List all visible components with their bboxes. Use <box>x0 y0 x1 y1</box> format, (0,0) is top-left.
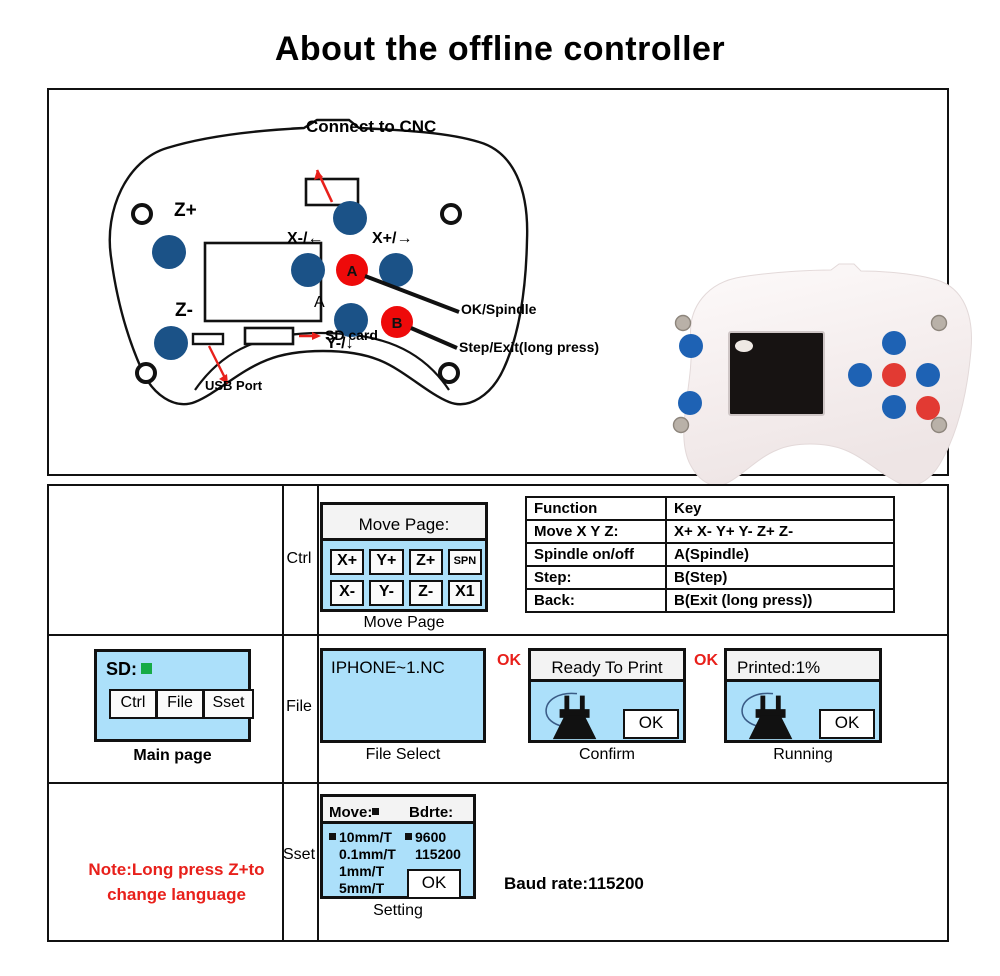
sd-label: SD: <box>106 659 137 679</box>
language-note: Note:Long press Z+to change language <box>69 858 284 907</box>
row-label-ctrl: Ctrl <box>283 550 315 568</box>
setting-head-move: Move: <box>329 801 382 824</box>
confirm-screen[interactable]: Ready To Print OK <box>528 648 686 743</box>
setting-caption: Setting <box>320 902 476 920</box>
main-page-screen[interactable]: SD: Ctrl File Sset <box>94 649 251 742</box>
function-key-table: Function Key Move X Y Z: X+ X- Y+ Y- Z+ … <box>525 496 895 613</box>
baud-rate-note: Baud rate:115200 <box>504 874 644 894</box>
move-option[interactable]: 5mm/T <box>329 880 396 897</box>
file-select-caption: File Select <box>320 746 486 764</box>
key-x-minus[interactable]: X- <box>330 580 364 606</box>
table-row: Step: B(Step) <box>526 566 894 589</box>
setting-move-options[interactable]: 10mm/T 0.1mm/T 1mm/T 5mm/T <box>329 829 396 897</box>
key-z-plus[interactable]: Z+ <box>409 549 443 575</box>
row-label-sset: Sset <box>283 846 315 864</box>
label-ok-spindle: OK/Spindle <box>461 301 536 317</box>
file-select-screen[interactable]: IPHONE~1.NC <box>320 648 486 743</box>
baud-option[interactable]: 115200 <box>405 846 461 863</box>
selected-bullet-icon <box>329 833 336 840</box>
label-x-minus: X-/← <box>287 230 323 248</box>
label-step-exit: Step/Exit(long press) <box>459 339 599 355</box>
transition-ok-1: OK <box>497 652 521 670</box>
key-x-plus[interactable]: X+ <box>330 549 364 575</box>
cell-key-move: X+ X- Y+ Y- Z+ Z- <box>666 520 894 543</box>
move-option-selected[interactable]: 10mm/T <box>329 829 396 846</box>
setting-baud-options[interactable]: 9600 115200 <box>405 829 461 863</box>
cell-key-spindle: A(Spindle) <box>666 543 894 566</box>
main-page-button-sset[interactable]: Sset <box>203 689 254 719</box>
move-option[interactable]: 1mm/T <box>329 863 396 880</box>
grid-hline-2 <box>49 782 947 784</box>
cell-function-back: Back: <box>526 589 666 612</box>
bullet-icon <box>372 808 379 815</box>
setting-header-bar: Move: Bdrte: <box>323 797 473 824</box>
key-z-minus[interactable]: Z- <box>409 580 443 606</box>
main-page-caption: Main page <box>94 747 251 765</box>
table-header-row: Function Key <box>526 497 894 520</box>
label-x-plus: X+/→ <box>372 230 412 248</box>
page-title: About the offline controller <box>0 30 1000 69</box>
key-y-plus[interactable]: Y+ <box>369 549 403 575</box>
move-page-screen[interactable]: Move Page: X+ Y+ Z+ SPN X- Y- Z- X1 <box>320 502 488 612</box>
key-y-minus[interactable]: Y- <box>369 580 403 606</box>
main-page-sd-status: SD: <box>106 659 152 680</box>
printer-icon <box>537 684 617 742</box>
running-ok-button[interactable]: OK <box>819 709 875 739</box>
confirm-caption: Confirm <box>528 746 686 764</box>
key-x1[interactable]: X1 <box>448 580 482 606</box>
language-note-line1: Note:Long press Z+to <box>69 858 284 883</box>
cell-function-move: Move X Y Z: <box>526 520 666 543</box>
running-title: Printed:1% <box>727 651 879 682</box>
header-function: Function <box>526 497 666 520</box>
selected-bullet-icon <box>405 833 412 840</box>
move-page-keypad[interactable]: X+ Y+ Z+ SPN X- Y- Z- X1 <box>330 549 482 606</box>
setting-head-bdrte: Bdrte: <box>409 801 453 824</box>
label-z-plus: Z+ <box>174 200 197 222</box>
confirm-title: Ready To Print <box>531 651 683 682</box>
table-row: Spindle on/off A(Spindle) <box>526 543 894 566</box>
move-page-title: Move Page: <box>323 505 485 541</box>
cell-key-back: B(Exit (long press)) <box>666 589 894 612</box>
key-spn[interactable]: SPN <box>448 549 482 575</box>
running-caption: Running <box>724 746 882 764</box>
grid-hline-1 <box>49 634 947 636</box>
move-option[interactable]: 0.1mm/T <box>329 846 396 863</box>
table-row: Move X Y Z: X+ X- Y+ Y- Z+ Z- <box>526 520 894 543</box>
file-select-filename[interactable]: IPHONE~1.NC <box>331 658 445 678</box>
label-z-minus: Z- <box>175 300 193 322</box>
setting-screen[interactable]: Move: Bdrte: 10mm/T 0.1mm/T 1mm/T 5mm/T … <box>320 794 476 899</box>
move-page-caption: Move Page <box>320 614 488 632</box>
baud-option-selected[interactable]: 9600 <box>405 829 461 846</box>
transition-ok-2: OK <box>694 652 718 670</box>
running-screen[interactable]: Printed:1% OK <box>724 648 882 743</box>
screens-panel: Ctrl File Sset Move Page: X+ Y+ Z+ SPN X… <box>47 484 949 942</box>
label-connect-to-cnc: Connect to CNC <box>306 117 436 137</box>
setting-ok-button[interactable]: OK <box>407 869 461 899</box>
language-note-line2: change language <box>69 883 284 908</box>
header-key: Key <box>666 497 894 520</box>
table-row: Back: B(Exit (long press)) <box>526 589 894 612</box>
sd-present-indicator <box>141 663 152 674</box>
row-label-file: File <box>283 698 315 716</box>
controller-photo <box>649 258 999 520</box>
cell-function-step: Step: <box>526 566 666 589</box>
main-page-button-file[interactable]: File <box>156 689 204 719</box>
label-sd-card: SD card <box>325 327 378 343</box>
cell-function-spindle: Spindle on/off <box>526 543 666 566</box>
label-a-button: A <box>314 294 325 312</box>
main-page-button-ctrl[interactable]: Ctrl <box>109 689 157 719</box>
cell-key-step: B(Step) <box>666 566 894 589</box>
grid-vline-right <box>317 486 319 940</box>
confirm-ok-button[interactable]: OK <box>623 709 679 739</box>
printer-icon <box>733 684 813 742</box>
svg-text:A: A <box>347 263 358 280</box>
svg-text:B: B <box>392 315 403 332</box>
diagram-panel: A B Connect to CNC Z+ Z- X-/← X+/→ A Y-/… <box>47 88 949 476</box>
label-usb-port: USB Port <box>205 378 262 393</box>
